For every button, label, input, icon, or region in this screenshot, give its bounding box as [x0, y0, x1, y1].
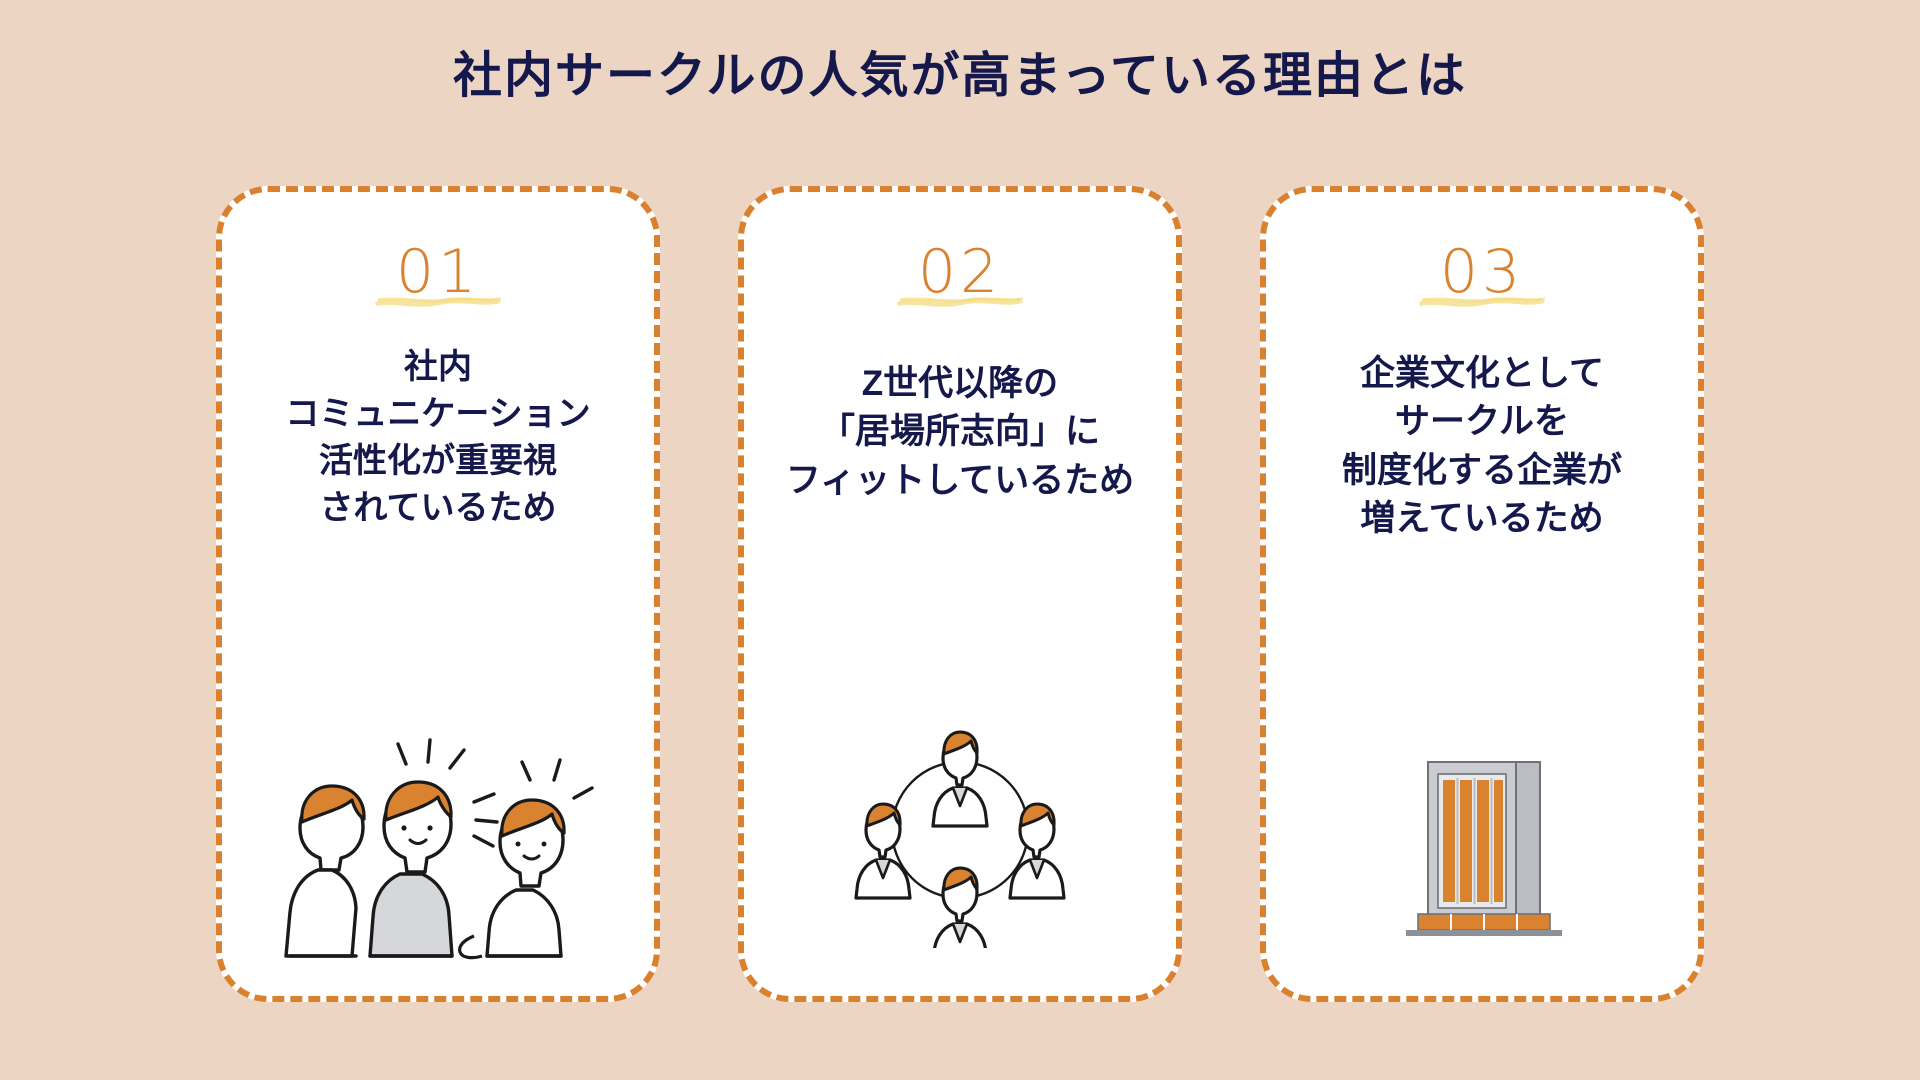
- card-1-number-wrap: 01: [222, 234, 654, 310]
- card-3-number: 03: [1440, 242, 1524, 302]
- three-people-talking-icon: [278, 736, 598, 966]
- card-1-number: 01: [396, 242, 480, 302]
- card-1-line-3: 活性化が重要視: [232, 438, 644, 485]
- card-1-line-4: されているため: [232, 485, 644, 532]
- card-1-illustration: [222, 736, 654, 966]
- people-circle-network-icon: [835, 712, 1085, 948]
- reason-card-2: 02 Z世代以降の 「居場所志向」に フィットしているため: [738, 186, 1182, 1002]
- reason-card-1: 01 社内 コミュニケーション 活性化が重要視 されているため: [216, 186, 660, 1002]
- card-3-line-2: サークルを: [1276, 398, 1688, 446]
- card-2-illustration: [744, 712, 1176, 948]
- card-3-illustration: [1266, 744, 1698, 944]
- card-3-text: 企業文化として サークルを 制度化する企業が 増えているため: [1266, 350, 1698, 543]
- card-2-line-2: 「居場所志向」に: [754, 408, 1166, 456]
- card-3-line-1: 企業文化として: [1276, 350, 1688, 398]
- card-2-line-3: フィットしているため: [754, 457, 1166, 505]
- card-2-line-1: Z世代以降の: [754, 360, 1166, 408]
- card-3-line-4: 増えているため: [1276, 495, 1688, 543]
- card-2-text: Z世代以降の 「居場所志向」に フィットしているため: [744, 360, 1176, 505]
- card-1-text: 社内 コミュニケーション 活性化が重要視 されているため: [222, 344, 654, 532]
- cards-row: 01 社内 コミュニケーション 活性化が重要視 されているため: [0, 186, 1920, 1002]
- card-3-number-wrap: 03: [1266, 234, 1698, 310]
- card-2-number-wrap: 02: [744, 234, 1176, 310]
- office-building-icon: [1382, 744, 1582, 944]
- page-title: 社内サークルの人気が高まっている理由とは: [0, 0, 1920, 104]
- card-2-number: 02: [918, 242, 1002, 302]
- reason-card-3: 03 企業文化として サークルを 制度化する企業が 増えているため: [1260, 186, 1704, 1002]
- card-3-line-3: 制度化する企業が: [1276, 447, 1688, 495]
- card-1-line-1: 社内: [232, 344, 644, 391]
- card-1-line-2: コミュニケーション: [232, 391, 644, 438]
